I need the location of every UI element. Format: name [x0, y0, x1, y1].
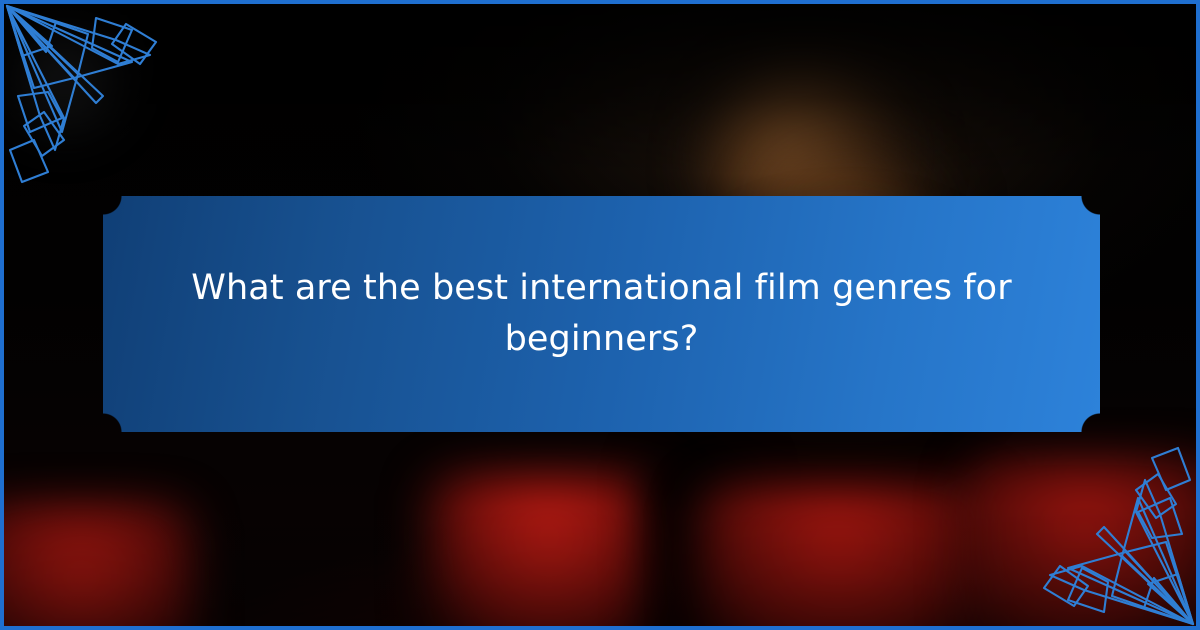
headline-text: What are the best international film gen…	[103, 196, 1100, 432]
social-card: What are the best international film gen…	[0, 0, 1200, 630]
top-vignette	[4, 4, 1196, 174]
headline-banner: What are the best international film gen…	[103, 196, 1100, 432]
bottom-vignette	[4, 506, 1196, 626]
